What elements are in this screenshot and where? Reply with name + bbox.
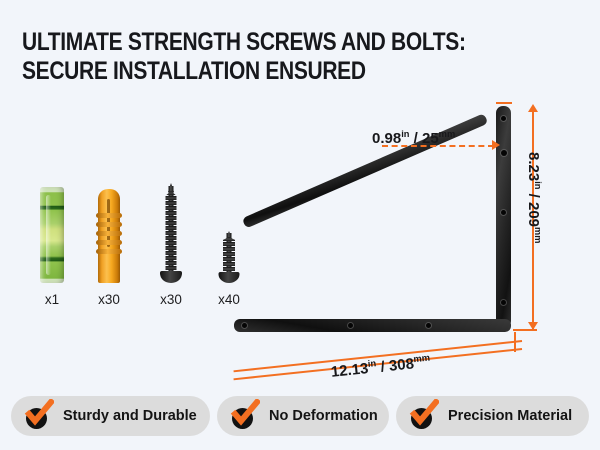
part-long-screw: x30 <box>143 187 199 305</box>
check-icon-tick <box>24 399 54 429</box>
dimension-arrow-width <box>492 140 500 150</box>
page-title: ULTIMATE STRENGTH SCREWS AND BOLTS: SECU… <box>22 28 476 86</box>
check-icon <box>24 401 54 431</box>
feature-badges: Sturdy and Durable No Deformation Precis… <box>11 396 589 438</box>
dimension-tick <box>513 329 537 331</box>
mounting-hole <box>501 116 506 121</box>
mounting-hole <box>501 210 506 215</box>
badge-label: No Deformation <box>269 408 378 424</box>
dimension-label-height: 8.23in / 209mm <box>525 152 543 244</box>
part-bubble-level-vial: x1 <box>24 187 80 305</box>
check-icon <box>230 401 260 431</box>
part-count-label: x30 <box>143 292 199 307</box>
mounting-hole <box>501 150 507 156</box>
badge-precision-material[interactable]: Precision Material <box>396 396 589 436</box>
mounting-hole <box>426 323 431 328</box>
check-icon <box>409 401 439 431</box>
mounting-hole <box>242 323 247 328</box>
check-icon-tick <box>409 399 439 429</box>
part-count-label: x1 <box>24 292 80 307</box>
badge-label: Sturdy and Durable <box>63 408 197 424</box>
long-screw-icon <box>143 187 199 305</box>
badge-label: Precision Material <box>448 408 572 424</box>
dimension-arrow-height-top <box>528 104 538 112</box>
dimension-tick <box>496 102 512 104</box>
mounting-hole <box>501 300 506 305</box>
wall-anchor-icon <box>81 187 137 305</box>
dimension-label-width: 0.98in / 25mm <box>372 129 455 147</box>
badge-sturdy-and-durable[interactable]: Sturdy and Durable <box>11 396 210 436</box>
infographic-canvas: ULTIMATE STRENGTH SCREWS AND BOLTS: SECU… <box>0 0 600 450</box>
mounting-hole <box>348 323 353 328</box>
check-icon-tick <box>230 399 260 429</box>
part-wall-anchor: x30 <box>81 187 137 305</box>
title-line-1: ULTIMATE STRENGTH SCREWS AND BOLTS: <box>22 28 476 57</box>
bubble-level-vial-icon <box>24 187 80 305</box>
dimension-tick <box>514 332 516 352</box>
part-count-label: x30 <box>81 292 137 307</box>
title-line-2: SECURE INSTALLATION ENSURED <box>22 57 476 86</box>
bracket-horizontal-arm <box>234 319 511 332</box>
badge-no-deformation[interactable]: No Deformation <box>217 396 389 436</box>
included-parts-group: x1 x30 <box>24 160 244 305</box>
